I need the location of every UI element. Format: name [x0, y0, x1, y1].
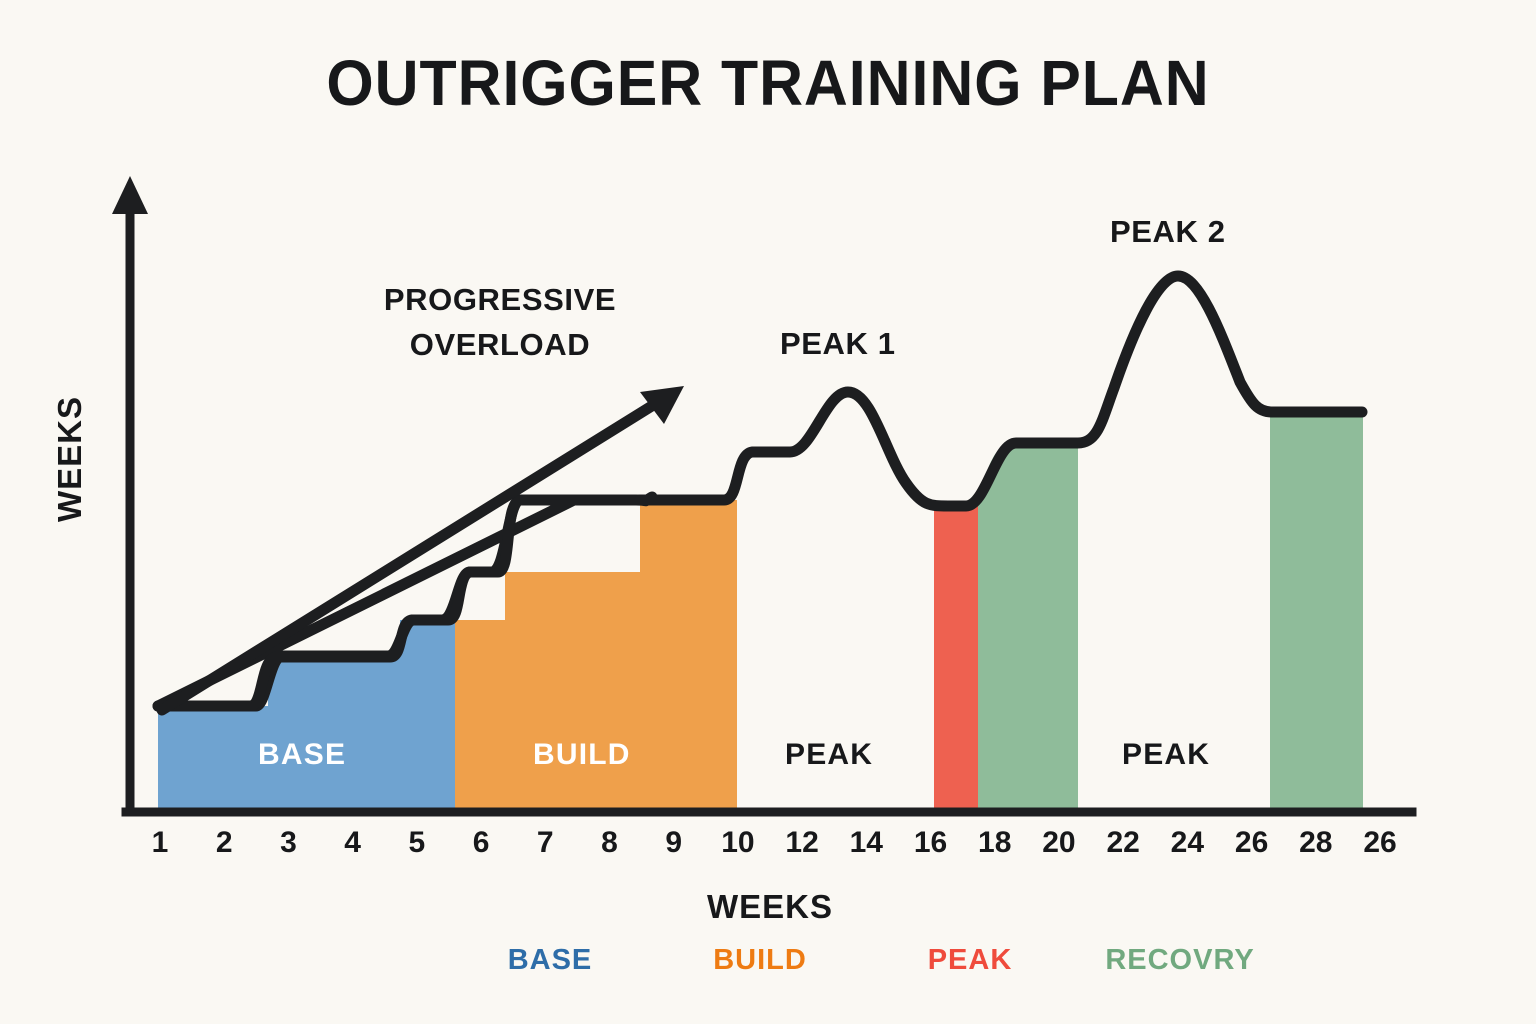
y-axis-arrowhead [112, 176, 148, 214]
band-label-peak-right: PEAK [1122, 738, 1210, 772]
phase-band-recovery-2 [1270, 412, 1363, 811]
x-tick-label: 24 [1157, 826, 1217, 860]
x-tick-label: 3 [258, 826, 318, 860]
annotation-progressive-overload: PROGRESSIVE OVERLOAD [345, 278, 655, 368]
band-label-peak-left: PEAK [785, 738, 873, 772]
y-axis-title: WEEKS [51, 384, 89, 534]
x-tick-label: 28 [1286, 826, 1346, 860]
phase-band-recovery-1 [978, 443, 1078, 811]
x-tick-label: 16 [901, 826, 961, 860]
band-label-build: BUILD [533, 738, 631, 772]
legend-item-base: BASE [430, 944, 670, 977]
x-tick-label: 5 [387, 826, 447, 860]
x-axis-title: WEEKS [645, 888, 895, 926]
x-tick-label: 14 [836, 826, 896, 860]
x-tick-label: 10 [708, 826, 768, 860]
x-tick-label: 18 [965, 826, 1025, 860]
x-axis-tick-labels: 1234567891012141618202224262826 [130, 826, 1415, 872]
x-tick-label: 7 [515, 826, 575, 860]
phase-band-peak [934, 506, 978, 811]
band-label-base: BASE [258, 738, 346, 772]
x-tick-label: 6 [451, 826, 511, 860]
x-tick-label: 4 [323, 826, 383, 860]
x-tick-label: 26 [1222, 826, 1282, 860]
x-tick-label: 9 [644, 826, 704, 860]
legend-item-build: BUILD [640, 944, 880, 977]
x-tick-label: 8 [579, 826, 639, 860]
x-tick-label: 22 [1093, 826, 1153, 860]
annotation-peak-1: PEAK 1 [780, 322, 896, 367]
annotation-peak-2: PEAK 2 [1110, 210, 1226, 255]
legend-item-peak: PEAK [850, 944, 1090, 977]
annotation-overload-line1: PROGRESSIVE [345, 278, 655, 323]
x-tick-label: 12 [772, 826, 832, 860]
legend-item-recovry: RECOVRY [1060, 944, 1300, 977]
chart-legend: BASEBUILDPEAKRECOVRY [230, 944, 1130, 994]
x-tick-label: 2 [194, 826, 254, 860]
x-tick-label: 20 [1029, 826, 1089, 860]
annotation-overload-line2: OVERLOAD [345, 323, 655, 368]
chart-canvas: OUTRIGGER TRAINING PLAN [0, 0, 1536, 1024]
phase-band-base [158, 620, 455, 811]
x-tick-label: 26 [1350, 826, 1410, 860]
x-tick-label: 1 [130, 826, 190, 860]
